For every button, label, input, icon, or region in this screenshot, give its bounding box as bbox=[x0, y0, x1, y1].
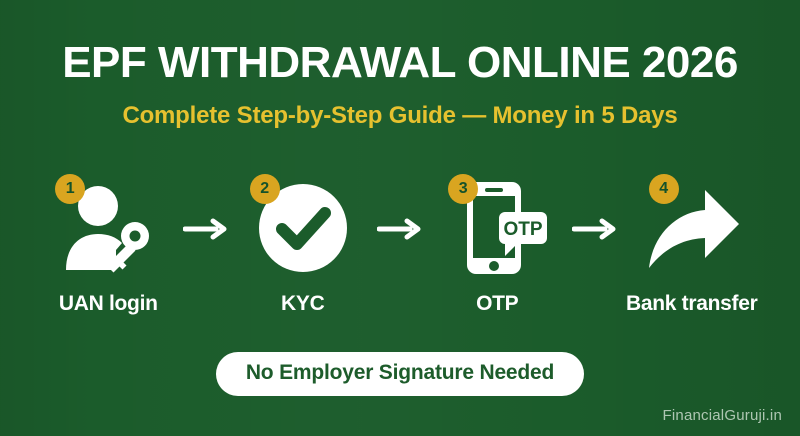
step-label-3: OTP bbox=[476, 292, 518, 316]
page-title: EPF WITHDRAWAL ONLINE 2026 bbox=[0, 38, 800, 88]
step-icon-wrapper: 2 bbox=[248, 176, 358, 280]
step-label-4: Bank transfer bbox=[626, 292, 757, 316]
step-icon-wrapper: 4 bbox=[637, 176, 747, 280]
steps-row: 1 UAN login bbox=[40, 176, 760, 316]
step-item-bank-transfer: 4 Bank transfer bbox=[624, 176, 761, 316]
step-number-badge-2: 2 bbox=[250, 174, 280, 204]
site-watermark: FinancialGuruji.in bbox=[663, 407, 782, 424]
infographic-canvas: EPF WITHDRAWAL ONLINE 2026 Complete Step… bbox=[0, 0, 800, 436]
step-number-badge-4: 4 bbox=[649, 174, 679, 204]
step-icon-wrapper: 1 bbox=[53, 176, 163, 280]
step-label-1: UAN login bbox=[59, 292, 158, 316]
arrow-right-icon bbox=[183, 218, 229, 240]
otp-bubble-text: OTP bbox=[504, 219, 543, 240]
step-item-kyc: 2 KYC bbox=[235, 176, 372, 316]
step-item-otp: 3 OTP OTP bbox=[429, 176, 566, 316]
step-connector-1 bbox=[177, 176, 235, 240]
step-label-2: KYC bbox=[281, 292, 324, 316]
step-connector-3 bbox=[566, 176, 624, 240]
page-subtitle: Complete Step-by-Step Guide — Money in 5… bbox=[0, 102, 800, 130]
no-employer-signature-badge: No Employer Signature Needed bbox=[216, 352, 584, 396]
pill-row: No Employer Signature Needed bbox=[0, 352, 800, 396]
step-connector-2 bbox=[371, 176, 429, 240]
step-icon-wrapper: 3 OTP bbox=[442, 176, 552, 280]
arrow-right-icon bbox=[377, 218, 423, 240]
header: EPF WITHDRAWAL ONLINE 2026 Complete Step… bbox=[0, 38, 800, 130]
arrow-right-icon bbox=[572, 218, 618, 240]
step-item-uan-login: 1 UAN login bbox=[40, 176, 177, 316]
